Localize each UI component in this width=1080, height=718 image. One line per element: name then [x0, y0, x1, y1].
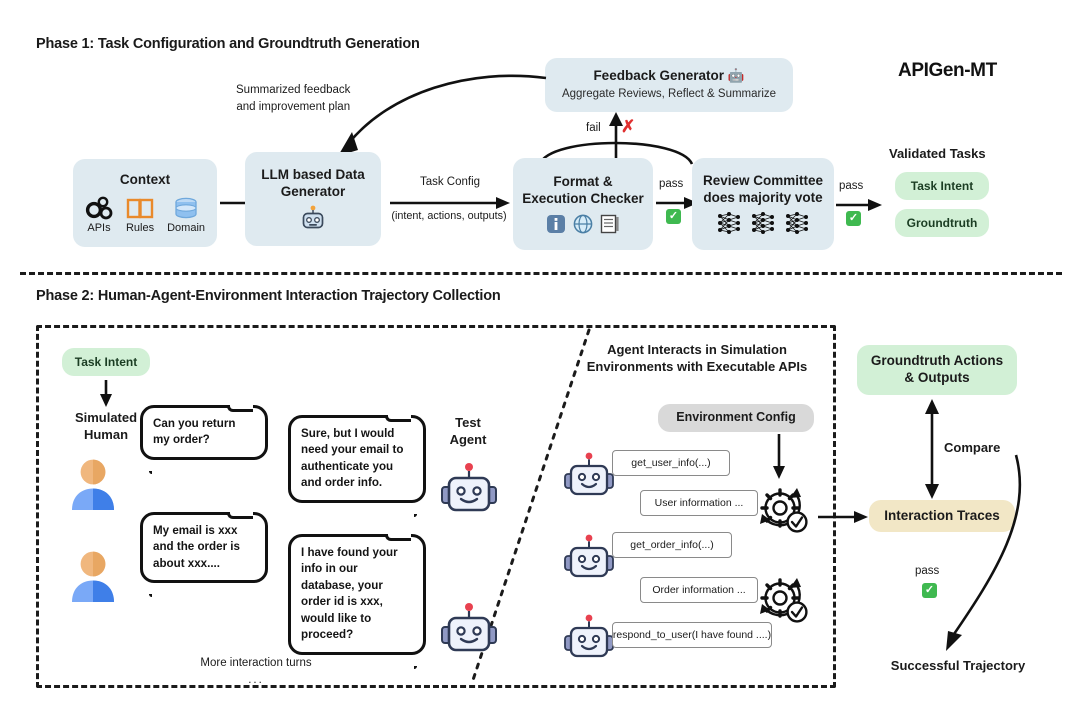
gears-icon: [85, 196, 113, 220]
pass-label-1: pass: [659, 178, 683, 190]
validated-pill-task-intent[interactable]: Task Intent: [895, 172, 989, 200]
bubble-notch-icon: [227, 512, 253, 519]
phase2-task-intent-label: Task Intent: [75, 355, 137, 369]
validated-pill-label-1: Groundtruth: [907, 216, 978, 230]
task-intent-down-arrow: [99, 380, 113, 408]
context-label-apis: APIs: [87, 222, 110, 234]
gear-check-icon: [756, 574, 808, 624]
gear-check-icon: [756, 484, 808, 534]
llm-generator-box[interactable]: LLM based Data Generator: [245, 152, 381, 246]
user-avatar-icon: [65, 456, 121, 514]
generator-to-checker-arrow: [390, 196, 514, 210]
llm-generator-line1: LLM based Data: [261, 167, 365, 184]
committee-to-validated-arrow: [836, 198, 884, 212]
info-icon: [546, 214, 566, 234]
bubble-text-agent-1: Sure, but I would need your email to aut…: [301, 427, 403, 489]
bubble-text-human-2: My email is xxx and the order is about x…: [153, 524, 240, 570]
context-item-rules: Rules: [126, 196, 154, 234]
brand-logo: APIGen-MT: [898, 60, 997, 82]
simulation-line2: Environments with Executable APIs: [566, 359, 828, 376]
traces-to-success-arrow: [900, 455, 1030, 665]
robot-icon: [564, 534, 614, 582]
bubble-tail-icon: [149, 471, 152, 474]
green-check-icon-1: ✓: [666, 209, 681, 224]
diagram-canvas: Phase 1: Task Configuration and Groundtr…: [0, 0, 1080, 718]
database-icon: [172, 196, 200, 220]
groundtruth-line1: Groundtruth Actions: [871, 353, 1003, 370]
environment-config-label: Environment Config: [676, 410, 795, 426]
agent-line1: Test: [432, 415, 504, 432]
robot-icon: [440, 602, 498, 656]
bubble-notch-icon: [385, 415, 411, 422]
speech-bubble-agent-2: I have found your info in our database, …: [288, 534, 426, 655]
neural-net-icon: [716, 211, 742, 235]
validated-pill-groundtruth[interactable]: Groundtruth: [895, 209, 989, 237]
phase2-title: Phase 2: Human-Agent-Environment Interac…: [36, 288, 501, 304]
committee-line1: Review Committee: [703, 173, 823, 190]
checker-icon-row: [546, 214, 620, 234]
api-result-order-information[interactable]: Order information ...: [640, 577, 758, 603]
speech-bubble-human-2: My email is xxx and the order is about x…: [140, 512, 268, 583]
green-check-icon-2: ✓: [846, 211, 861, 226]
simulation-line1: Agent Interacts in Simulation: [566, 342, 828, 359]
speech-bubble-agent-1: Sure, but I would need your email to aut…: [288, 415, 426, 503]
context-label-rules: Rules: [126, 222, 154, 234]
neural-net-icon: [784, 211, 810, 235]
task-config-line1: Task Config: [386, 176, 514, 188]
globe-icon: [573, 214, 593, 234]
bubble-notch-icon: [227, 405, 253, 412]
context-title: Context: [120, 172, 170, 189]
speech-bubble-human-1: Can you return my order?: [140, 405, 268, 460]
feedback-generator-subtitle: Aggregate Reviews, Reflect & Summarize: [562, 87, 776, 102]
open-book-icon: [126, 196, 154, 220]
llm-generator-line2: Generator: [281, 184, 346, 201]
bubble-notch-icon: [385, 534, 411, 541]
review-committee-box[interactable]: Review Committee does majority vote: [692, 158, 834, 250]
more-turns-group: More interaction turns ...: [156, 655, 356, 688]
robot-icon: [300, 205, 326, 231]
agent-line2: Agent: [432, 432, 504, 449]
phase1-title: Phase 1: Task Configuration and Groundtr…: [36, 36, 420, 52]
more-turns-line2: ...: [156, 672, 356, 689]
context-label-domain: Domain: [167, 222, 205, 234]
user-avatar-icon: [65, 548, 121, 606]
phase2-task-intent-pill[interactable]: Task Intent: [62, 348, 150, 376]
red-x-icon: ✗: [621, 118, 635, 135]
validated-pill-label-0: Task Intent: [911, 179, 973, 193]
test-agent-group: Test Agent: [432, 415, 504, 449]
more-turns-line1: More interaction turns: [156, 655, 356, 672]
feedback-generator-title: Feedback Generator 🤖: [593, 68, 744, 85]
clipboard-icon: [600, 214, 620, 234]
robot-icon: [564, 614, 614, 662]
pass-label-2: pass: [839, 180, 863, 192]
groundtruth-line2: & Outputs: [904, 370, 969, 387]
simulation-to-traces-arrow: [818, 510, 872, 524]
env-config-down-arrow: [772, 434, 786, 480]
neural-net-icon: [750, 211, 776, 235]
bubble-text-agent-2: I have found your info in our database, …: [301, 546, 398, 641]
successful-trajectory-label: Successful Trajectory: [868, 658, 1048, 675]
phase-divider: [20, 272, 1062, 275]
bubble-text-human-1: Can you return my order?: [153, 417, 235, 446]
groundtruth-actions-box[interactable]: Groundtruth Actions & Outputs: [857, 345, 1017, 395]
format-execution-checker-box[interactable]: Format & Execution Checker: [513, 158, 653, 250]
context-item-domain: Domain: [167, 196, 205, 234]
checker-line1: Format &: [553, 174, 612, 191]
api-result-user-information[interactable]: User information ...: [640, 490, 758, 516]
checker-line2: Execution Checker: [522, 191, 644, 208]
api-call-get-order-info[interactable]: get_order_info(...): [612, 532, 732, 558]
validated-tasks-heading: Validated Tasks: [889, 146, 986, 163]
committee-icon-row: [716, 211, 810, 235]
robot-icon: [564, 452, 614, 500]
fail-label: fail: [586, 122, 601, 134]
task-config-edge: Task Config: [386, 176, 514, 188]
committee-line2: does majority vote: [703, 190, 822, 207]
feedback-generator-box[interactable]: Feedback Generator 🤖 Aggregate Reviews, …: [545, 58, 793, 112]
api-call-get-user-info[interactable]: get_user_info(...): [612, 450, 730, 476]
context-icon-row: APIs Rules Domain: [85, 196, 205, 234]
task-config-line2: (intent, actions, outputs): [384, 210, 514, 222]
robot-icon: [440, 462, 498, 516]
simulation-heading: Agent Interacts in Simulation Environmen…: [566, 342, 828, 376]
context-item-apis: APIs: [85, 196, 113, 234]
context-box[interactable]: Context APIs Rules: [73, 159, 217, 247]
environment-config-pill[interactable]: Environment Config: [658, 404, 814, 432]
api-call-respond-to-user[interactable]: respond_to_user(I have found ....): [612, 622, 772, 648]
